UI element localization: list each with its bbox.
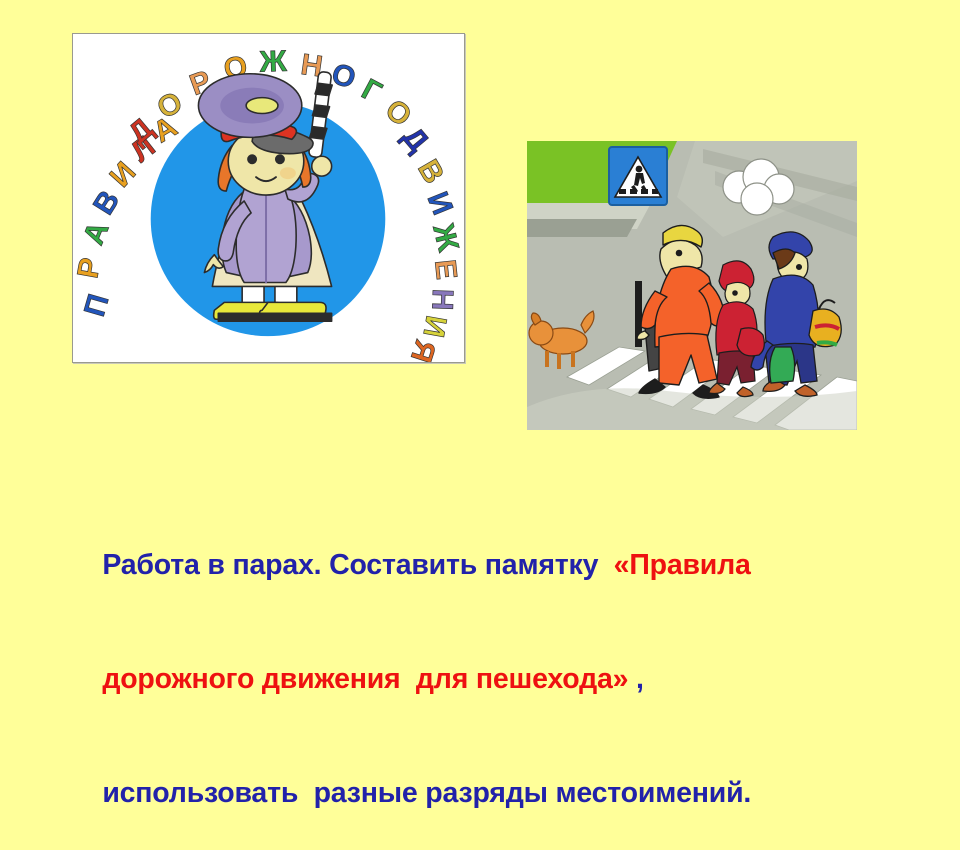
caption-line-2: дорожного движения для пешехода» , — [56, 622, 916, 736]
caption-line1-red: «Правила — [614, 549, 751, 581]
cap-badge — [246, 98, 278, 114]
green-skirt — [770, 347, 795, 383]
blue-coat — [765, 275, 819, 351]
caption-line3-blue: использовать разные разряды местоимений. — [102, 777, 751, 809]
svg-text:Н: Н — [425, 288, 459, 311]
pdd-logo-image: П Р А В И Л А Д О Р О Ж Н О Г О Д В — [73, 34, 464, 362]
svg-text:Ж: Ж — [258, 45, 288, 79]
pedestrian-crossing-photo — [527, 141, 857, 430]
caption-line2-blue: , — [628, 663, 643, 695]
caption-line1-blue: Работа в парах. Составить памятку — [102, 549, 613, 581]
crossing-illustration — [527, 141, 857, 430]
pdd-logo-frame: П Р А В И Л А Д О Р О Ж Н О Г О Д В — [72, 33, 465, 363]
svg-text:Е: Е — [428, 258, 463, 281]
caption-line-1: Работа в парах. Составить памятку «Прави… — [56, 508, 916, 622]
slide-canvas: П Р А В И Л А Д О Р О Ж Н О Г О Д В — [0, 0, 960, 720]
slide-caption: Работа в парах. Составить памятку «Прави… — [56, 508, 916, 850]
caption-line2-red: дорожного движения для пешехода» — [102, 663, 628, 695]
caption-line-3: использовать разные разряды местоимений. — [56, 736, 916, 850]
